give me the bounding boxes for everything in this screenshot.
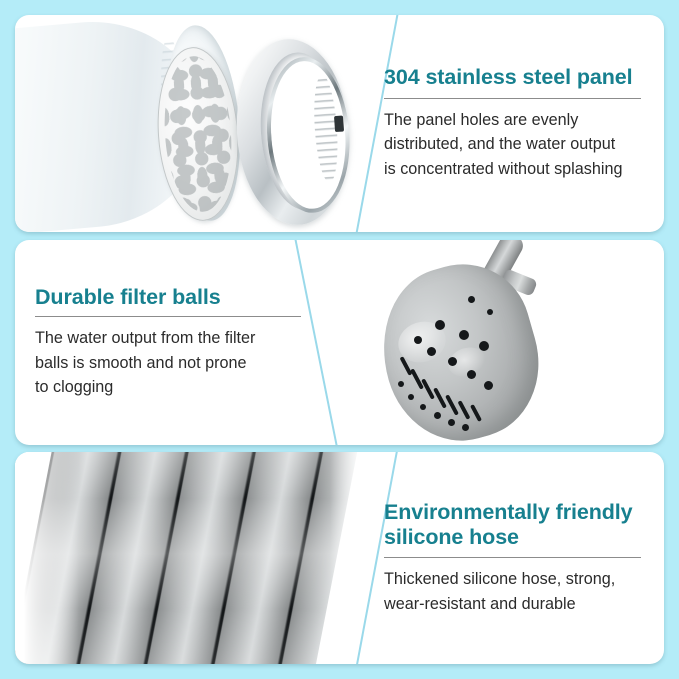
spray-hole: [420, 404, 426, 410]
spray-hole: [434, 412, 441, 419]
feature-heading: Durable filter balls: [35, 285, 301, 310]
feature-card-panel: 304 stainless steel panel The panel hole…: [15, 15, 664, 232]
spray-hole: [487, 309, 493, 315]
spray-hole: [427, 347, 436, 356]
chrome-ring: [231, 35, 356, 228]
feature-card-filter-balls: Durable filter balls The water output fr…: [15, 240, 664, 445]
product-image-silicone-hose: [15, 452, 370, 664]
spray-hole: [462, 424, 469, 431]
chrome-ring-notch: [334, 115, 344, 132]
spray-hole: [448, 419, 455, 426]
hose-coil: [15, 452, 370, 664]
feature-text-panel: 304 stainless steel panel The panel hole…: [384, 15, 646, 232]
feature-description: The water output from the filter balls i…: [35, 326, 301, 400]
product-image-shower-head: [334, 240, 664, 445]
heading-underline: [384, 557, 641, 558]
heading-underline: [384, 98, 641, 99]
feature-description: The panel holes are evenly distributed, …: [384, 108, 646, 182]
shower-head-assembly: [352, 244, 652, 444]
feature-text-silicone-hose: Environmentally friendly silicone hose T…: [384, 452, 648, 664]
spray-hole: [484, 381, 493, 390]
feature-card-silicone-hose: Environmentally friendly silicone hose T…: [15, 452, 664, 664]
feature-description: Thickened silicone hose, strong, wear-re…: [384, 567, 648, 616]
spray-hole: [467, 370, 476, 379]
spray-hole: [414, 336, 422, 344]
spray-hole: [468, 296, 475, 303]
heading-underline: [35, 316, 301, 317]
spray-hole: [459, 330, 469, 340]
feature-heading: Environmentally friendly silicone hose: [384, 500, 648, 550]
product-image-stainless-panel: [15, 15, 385, 232]
feature-heading: 304 stainless steel panel: [384, 65, 646, 90]
hose-fade-left: [15, 452, 79, 664]
infographic-page: 304 stainless steel panel The panel hole…: [0, 0, 679, 679]
panel-holes: [160, 54, 237, 214]
spray-hole: [398, 381, 404, 387]
chrome-ring-bevel: [262, 54, 355, 215]
feature-text-filter-balls: Durable filter balls The water output fr…: [35, 240, 301, 445]
spray-hole: [408, 394, 414, 400]
spray-hole: [479, 341, 489, 351]
spray-hole: [435, 320, 445, 330]
spray-hole: [448, 357, 457, 366]
